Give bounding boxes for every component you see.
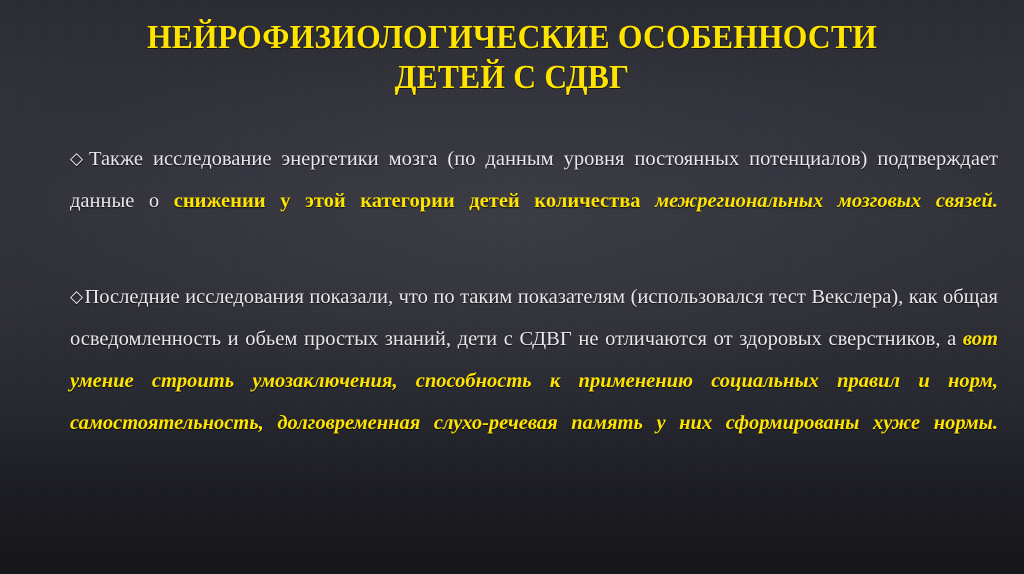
diamond-bullet-icon: ◇ [70, 149, 89, 168]
paragraph-2-content: ◇Последние исследования показали, что по… [70, 276, 998, 486]
slide-body: ◇Также исследование энергетики мозга (по… [70, 138, 998, 486]
bullet-paragraph-2: ◇Последние исследования показали, что по… [70, 276, 998, 486]
title-line-1: НЕЙРОФИЗИОЛОГИЧЕСКИЕ ОСОБЕННОСТИ [36, 18, 988, 58]
page-title: НЕЙРОФИЗИОЛОГИЧЕСКИЕ ОСОБЕННОСТИ ДЕТЕЙ С… [0, 18, 1024, 98]
paragraph-1-run-highlight-italic: межрегиональных мозговых связей. [655, 190, 998, 212]
slide-canvas: НЕЙРОФИЗИОЛОГИЧЕСКИЕ ОСОБЕННОСТИ ДЕТЕЙ С… [0, 0, 1024, 574]
paragraph-2-run-normal: Последние исследования показали, что по … [70, 286, 998, 350]
title-line-2: ДЕТЕЙ С СДВГ [36, 58, 988, 98]
bullet-paragraph-1: ◇Также исследование энергетики мозга (по… [70, 138, 998, 264]
diamond-bullet-icon: ◇ [70, 287, 84, 306]
paragraph-1-run-highlight: снижении у этой категории детей количест… [174, 190, 655, 212]
